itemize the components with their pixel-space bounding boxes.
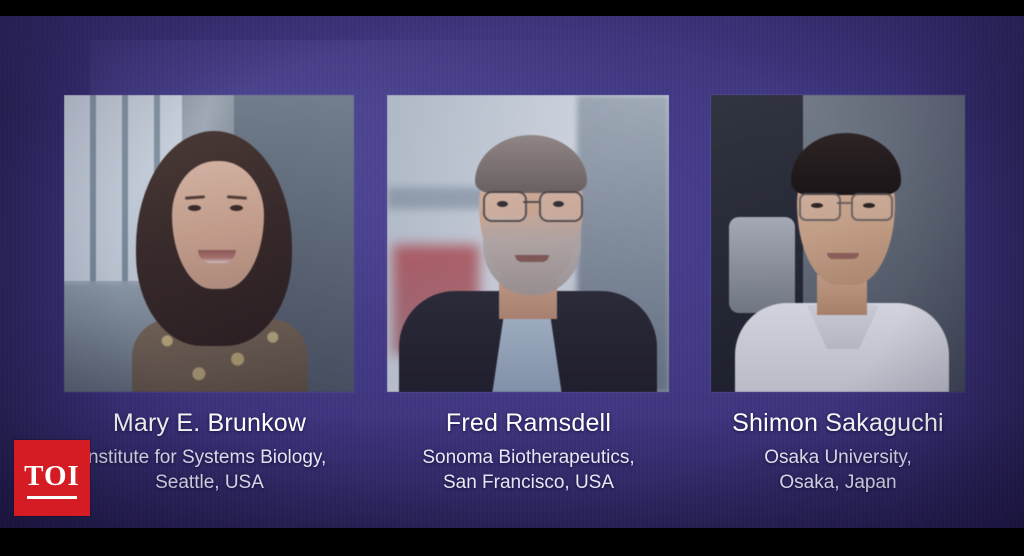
- laureate-affiliation: Institute for Systems Biology, Seattle, …: [62, 445, 357, 495]
- laureate-photo-sakaguchi: [711, 95, 965, 392]
- laureate-photo-ramsdell: [387, 95, 669, 392]
- laureate-affiliation: Sonoma Biotherapeutics, San Francisco, U…: [386, 445, 671, 495]
- toi-watermark-logo: TOI: [14, 440, 90, 516]
- laureate-caption: Mary E. Brunkow Institute for Systems Bi…: [62, 408, 357, 495]
- affiliation-line: San Francisco, USA: [443, 472, 614, 493]
- letterbox-top: [0, 0, 1024, 16]
- affiliation-line: Seattle, USA: [155, 472, 264, 493]
- laureate-name: Mary E. Brunkow: [62, 408, 357, 438]
- laureate-photo-brunkow: [64, 95, 354, 392]
- affiliation-line: Institute for Systems Biology,: [83, 445, 327, 470]
- laureate-caption: Shimon Sakaguchi Osaka University, Osaka…: [709, 408, 967, 495]
- letterbox-bottom: [0, 528, 1024, 556]
- toi-watermark-text: TOI: [24, 462, 80, 494]
- video-frame: Mary E. Brunkow Institute for Systems Bi…: [0, 0, 1024, 556]
- laureate-name: Fred Ramsdell: [386, 408, 671, 438]
- laureate-card: [711, 95, 1009, 392]
- affiliation-line: Sonoma Biotherapeutics,: [422, 447, 634, 468]
- laureate-affiliation: Osaka University, Osaka, Japan: [709, 445, 967, 495]
- laureate-name: Shimon Sakaguchi: [709, 408, 967, 438]
- laureate-caption: Fred Ramsdell Sonoma Biotherapeutics, Sa…: [386, 408, 671, 495]
- laureate-panel: Mary E. Brunkow Institute for Systems Bi…: [0, 16, 1024, 528]
- affiliation-line: Osaka University,: [764, 447, 911, 468]
- affiliation-line: Osaka, Japan: [779, 472, 896, 493]
- laureate-card: [64, 95, 362, 392]
- laureate-card: [387, 95, 685, 392]
- toi-underline: [27, 496, 77, 499]
